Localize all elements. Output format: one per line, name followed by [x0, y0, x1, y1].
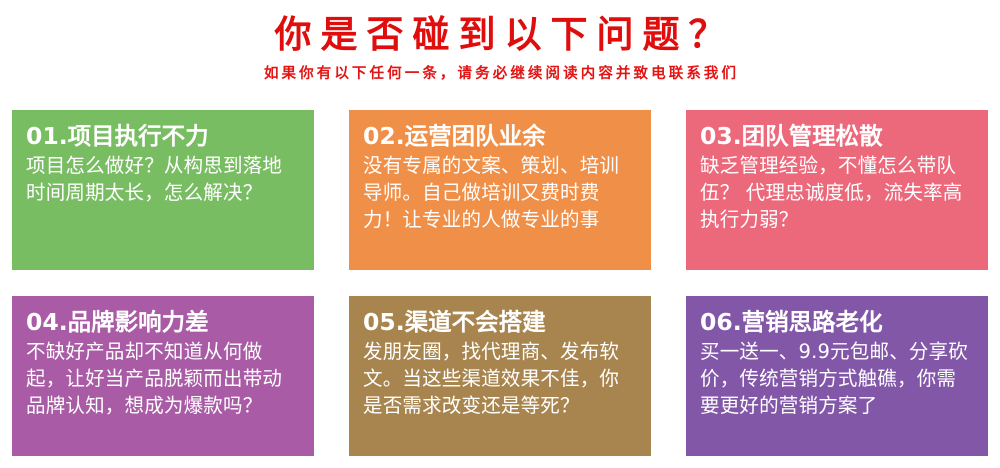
page-subtitle: 如果你有以下任何一条，请务必继续阅读内容并致电联系我们 — [0, 64, 1000, 84]
promo-poster: 你是否碰到以下问题？ 如果你有以下任何一条，请务必继续阅读内容并致电联系我们 0… — [0, 0, 1000, 468]
poster-header: 你是否碰到以下问题？ 如果你有以下任何一条，请务必继续阅读内容并致电联系我们 — [0, 0, 1000, 84]
problem-card-02-title: 02.运营团队业余 — [363, 121, 637, 151]
problem-card-01[interactable]: 01.项目执行不力 项目怎么做好？从构思到落地时间周期太长，怎么解决？ — [12, 110, 314, 270]
page-title: 你是否碰到以下问题？ — [0, 12, 1000, 58]
problem-card-04[interactable]: 04.品牌影响力差 不缺好产品却不知道从何做起，让好当产品脱颖而出带动品牌认知，… — [12, 296, 314, 456]
problem-card-04-title: 04.品牌影响力差 — [26, 307, 300, 337]
problem-card-05[interactable]: 05.渠道不会搭建 发朋友圈，找代理商、发布软文。当这些渠道效果不佳，你是否需求… — [349, 296, 651, 456]
problem-card-04-body: 不缺好产品却不知道从何做起，让好当产品脱颖而出带动品牌认知，想成为爆款吗？ — [26, 338, 300, 419]
problem-card-03[interactable]: 03.团队管理松散 缺乏管理经验，不懂怎么带队伍？ 代理忠诚度低，流失率高执行力… — [686, 110, 988, 270]
problem-card-grid: 01.项目执行不力 项目怎么做好？从构思到落地时间周期太长，怎么解决？ 02.运… — [12, 110, 988, 456]
problem-card-06-body: 买一送一、9.9元包邮、分享砍价，传统营销方式触礁，你需要更好的营销方案了 — [700, 338, 974, 419]
problem-card-02-body: 没有专属的文案、策划、培训导师。自己做培训又费时费力！让专业的人做专业的事 — [363, 152, 637, 233]
problem-card-05-title: 05.渠道不会搭建 — [363, 307, 637, 337]
problem-card-06[interactable]: 06.营销思路老化 买一送一、9.9元包邮、分享砍价，传统营销方式触礁，你需要更… — [686, 296, 988, 456]
problem-card-03-body: 缺乏管理经验，不懂怎么带队伍？ 代理忠诚度低，流失率高执行力弱？ — [700, 152, 974, 233]
problem-card-06-title: 06.营销思路老化 — [700, 307, 974, 337]
problem-card-03-title: 03.团队管理松散 — [700, 121, 974, 151]
problem-card-01-title: 01.项目执行不力 — [26, 121, 300, 151]
problem-card-01-body: 项目怎么做好？从构思到落地时间周期太长，怎么解决？ — [26, 152, 300, 206]
problem-card-05-body: 发朋友圈，找代理商、发布软文。当这些渠道效果不佳，你是否需求改变还是等死？ — [363, 338, 637, 419]
problem-card-02[interactable]: 02.运营团队业余 没有专属的文案、策划、培训导师。自己做培训又费时费力！让专业… — [349, 110, 651, 270]
